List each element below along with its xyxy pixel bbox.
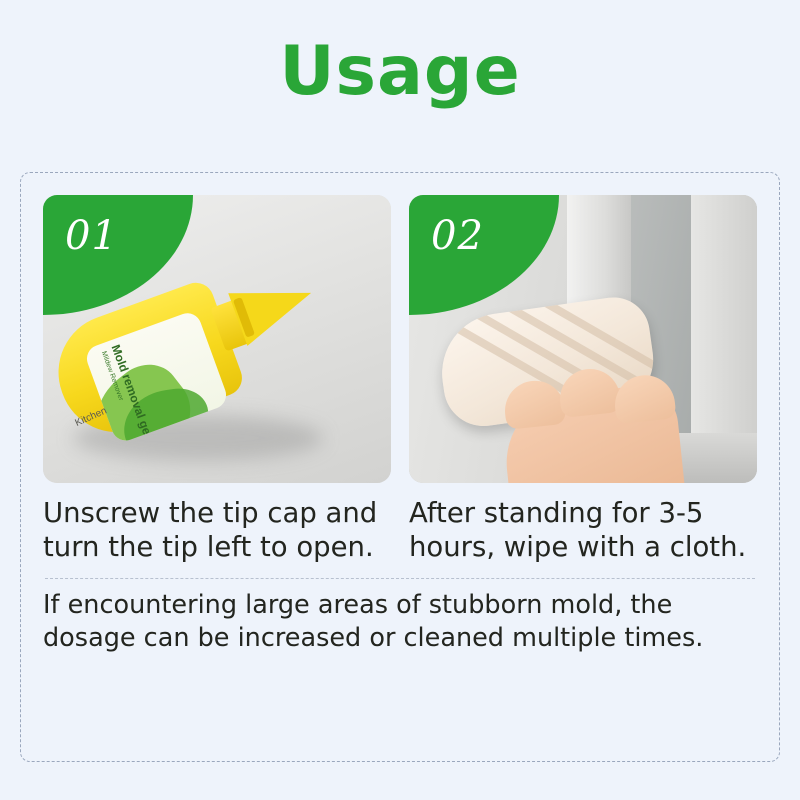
product-brand: Kitchen bbox=[74, 405, 109, 429]
step-2-caption: After standing for 3-5 hours, wipe with … bbox=[409, 497, 757, 564]
step-card-2: 02 After standing for 3-5 hours, wipe wi… bbox=[409, 195, 757, 564]
step-2-number: 02 bbox=[431, 213, 484, 259]
hand bbox=[500, 382, 686, 483]
step-1-image: Mold removal gel Mildew Remover Kitchen … bbox=[43, 195, 391, 483]
footnote-text: If encountering large areas of stubborn … bbox=[43, 589, 757, 654]
step-2-image: 02 bbox=[409, 195, 757, 483]
steps-panel: Mold removal gel Mildew Remover Kitchen … bbox=[20, 172, 780, 762]
bottle-label: Mold removal gel Mildew Remover bbox=[83, 309, 230, 444]
step-1-number: 01 bbox=[65, 213, 118, 259]
steps-row: Mold removal gel Mildew Remover Kitchen … bbox=[43, 195, 757, 564]
footnote-divider bbox=[45, 578, 755, 579]
step-1-caption: Unscrew the tip cap and turn the tip lef… bbox=[43, 497, 391, 564]
step-card-1: Mold removal gel Mildew Remover Kitchen … bbox=[43, 195, 391, 564]
usage-infographic: Usage Mold removal gel Mildew Remover bbox=[0, 0, 800, 800]
page-title: Usage bbox=[0, 0, 800, 106]
